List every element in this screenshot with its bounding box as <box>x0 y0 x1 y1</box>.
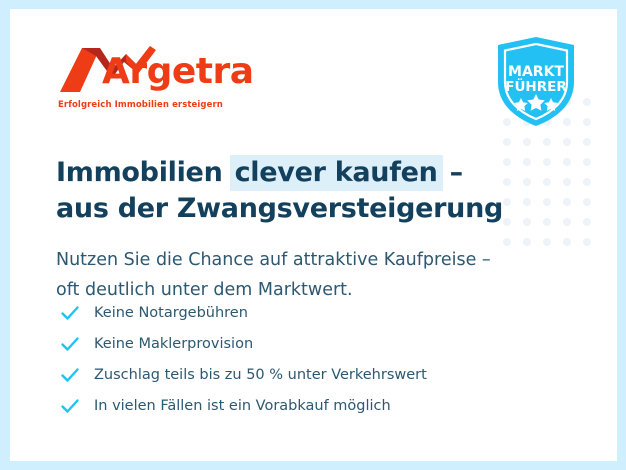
decorative-dot <box>563 158 571 166</box>
decorative-dot <box>563 178 571 186</box>
decorative-dot <box>563 218 571 226</box>
benefits-list: Keine Notargebühren Keine Maklerprovisio… <box>60 297 427 421</box>
badge-line2: FÜHRER <box>505 77 567 95</box>
decorative-dot <box>543 138 551 146</box>
badge-line1: MARKT <box>508 64 564 80</box>
decorative-dot <box>503 218 511 226</box>
decorative-dot <box>503 198 511 206</box>
list-item: Zuschlag teils bis zu 50 % unter Verkehr… <box>60 359 427 390</box>
subheadline: Nutzen Sie die Chance auf attraktive Kau… <box>56 245 491 305</box>
decorative-dot <box>543 158 551 166</box>
decorative-dot <box>543 178 551 186</box>
logo-tagline: Erfolgreich Immobilien ersteigern <box>58 100 223 110</box>
decorative-dot <box>503 238 511 246</box>
headline-line1: Immobilien clever kaufen – <box>56 157 463 188</box>
list-item: In vielen Fällen ist ein Vorabkauf mögli… <box>60 390 427 421</box>
list-item: Keine Notargebühren <box>60 297 427 328</box>
market-leader-badge: MARKT FÜHRER <box>495 36 577 128</box>
decorative-dot <box>583 98 591 106</box>
headline-highlight: clever kaufen <box>230 155 443 191</box>
decorative-dot <box>543 218 551 226</box>
headline-line2: aus der Zwangsversteigerung <box>56 193 503 224</box>
list-item: Keine Maklerprovision <box>60 328 427 359</box>
decorative-dot <box>523 218 531 226</box>
check-icon <box>60 396 80 416</box>
benefit-label: Keine Maklerprovision <box>94 335 253 353</box>
headline-post: – <box>441 157 463 188</box>
decorative-dot <box>583 218 591 226</box>
check-icon <box>60 365 80 385</box>
benefit-label: Zuschlag teils bis zu 50 % unter Verkehr… <box>94 366 427 384</box>
decorative-dot <box>503 178 511 186</box>
card-surface: Argetra Erfolgreich Immobilien ersteiger… <box>10 9 617 461</box>
brand-logo[interactable]: Argetra Erfolgreich Immobilien ersteiger… <box>56 42 236 92</box>
logo-wordmark: Argetra <box>102 53 254 91</box>
decorative-dot <box>523 178 531 186</box>
check-icon <box>60 334 80 354</box>
decorative-dot <box>523 138 531 146</box>
decorative-dot <box>583 118 591 126</box>
decorative-dot <box>523 238 531 246</box>
decorative-dot <box>543 238 551 246</box>
shield-badge-icon: MARKT FÜHRER <box>495 36 577 128</box>
benefit-label: In vielen Fällen ist ein Vorabkauf mögli… <box>94 397 391 415</box>
decorative-dot <box>583 178 591 186</box>
page-title: Immobilien clever kaufen – aus der Zwang… <box>56 155 503 227</box>
decorative-dot <box>523 158 531 166</box>
decorative-dot <box>583 198 591 206</box>
decorative-dot <box>563 138 571 146</box>
decorative-dot <box>523 198 531 206</box>
benefit-label: Keine Notargebühren <box>94 304 248 322</box>
decorative-dot <box>543 198 551 206</box>
decorative-dot <box>503 138 511 146</box>
decorative-dot <box>583 138 591 146</box>
decorative-dot <box>563 238 571 246</box>
decorative-dot <box>563 198 571 206</box>
decorative-dot <box>583 158 591 166</box>
check-icon <box>60 303 80 323</box>
decorative-dot <box>583 238 591 246</box>
headline-pre: Immobilien <box>56 157 232 188</box>
promo-card: Argetra Erfolgreich Immobilien ersteiger… <box>0 0 626 470</box>
subheadline-line1: Nutzen Sie die Chance auf attraktive Kau… <box>56 250 491 270</box>
decorative-dot <box>503 158 511 166</box>
